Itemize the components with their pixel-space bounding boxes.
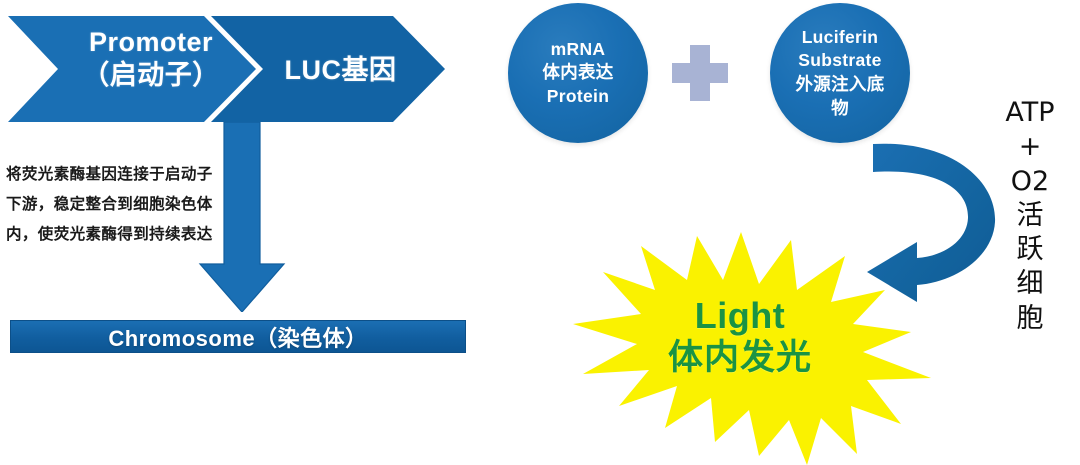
atp-line-atp: ATP bbox=[985, 96, 1075, 130]
atp-line-bao: 胞 bbox=[985, 302, 1075, 336]
plus-icon bbox=[672, 45, 728, 101]
luciferin-substrate-circle: Luciferin Substrate 外源注入底 物 bbox=[770, 3, 910, 143]
atp-line-o2: O2 bbox=[985, 165, 1075, 199]
diagram-canvas: Promoter （启动子） LUC基因 将荧光素酶基因连接于启动子下游，稳定整… bbox=[0, 0, 1080, 465]
mrna-line-1: mRNA bbox=[542, 38, 613, 62]
atp-line-yue: 跃 bbox=[985, 233, 1075, 267]
mrna-circle-text: mRNA 体内表达 Protein bbox=[542, 38, 613, 109]
mrna-protein-circle: mRNA 体内表达 Protein bbox=[508, 3, 648, 143]
promoter-label: Promoter （启动子） bbox=[56, 26, 246, 92]
light-output-label: Light 体内发光 bbox=[610, 295, 870, 379]
integration-description-text: 将荧光素酶基因连接于启动子下游，稳定整合到细胞染色体内，使荧光素酶得到持续表达 bbox=[6, 160, 216, 251]
plus-icon-vertical-bar bbox=[690, 45, 710, 101]
atp-line-plus: + bbox=[985, 130, 1075, 164]
luciferin-circle-text: Luciferin Substrate 外源注入底 物 bbox=[796, 26, 885, 121]
luc-gene-label: LUC基因 bbox=[258, 54, 423, 87]
light-english-label: Light bbox=[610, 295, 870, 337]
chromosome-bar: Chromosome（染色体） bbox=[10, 320, 466, 353]
atp-o2-label-stack: ATP + O2 活 跃 细 胞 bbox=[985, 96, 1075, 336]
atp-line-xi: 细 bbox=[985, 267, 1075, 301]
light-chinese-label: 体内发光 bbox=[610, 337, 870, 378]
mrna-line-3: Protein bbox=[542, 85, 613, 109]
luciferin-line-4: 物 bbox=[796, 97, 885, 121]
mrna-line-2: 体内表达 bbox=[542, 61, 613, 85]
luciferin-line-3: 外源注入底 bbox=[796, 73, 885, 97]
luciferin-line-2: Substrate bbox=[796, 49, 885, 73]
luciferin-line-1: Luciferin bbox=[796, 26, 885, 50]
promoter-luc-chevron: Promoter （启动子） LUC基因 bbox=[8, 14, 458, 124]
atp-line-huo: 活 bbox=[985, 199, 1075, 233]
chromosome-label: Chromosome（染色体） bbox=[108, 321, 367, 353]
